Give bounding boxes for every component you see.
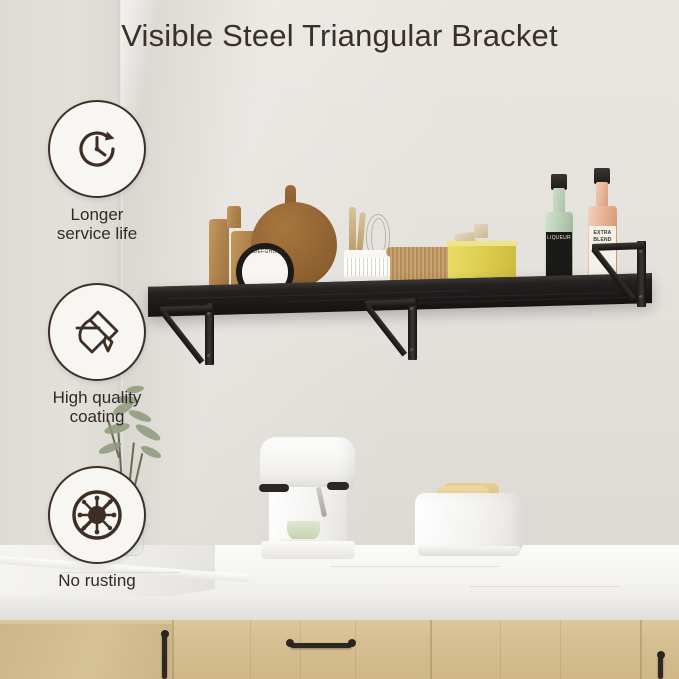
cabinet-handle-left[interactable] — [162, 634, 167, 679]
espresso-machine — [255, 437, 360, 559]
badge-label: No rusting — [22, 571, 172, 590]
cabinet-handle-knob — [657, 651, 665, 659]
yellow-pot-rim — [446, 241, 518, 246]
cabinet-wood-grain — [250, 620, 251, 679]
bracket-screw — [207, 312, 211, 316]
bracket-screw — [639, 295, 643, 299]
bracket-screw — [410, 307, 414, 311]
badge-circle — [48, 100, 146, 198]
product-lifestyle-image: ABCDEFGHIJKLMNOPQRSTUVWXYZ LIQUEUR EXTRA… — [0, 0, 679, 679]
cabinet-seam — [172, 620, 174, 679]
cabinet-left-side[interactable] — [0, 624, 172, 679]
cabinet-seam — [430, 620, 432, 679]
cabinet-wood-grain — [500, 620, 501, 679]
toaster — [415, 483, 523, 559]
toaster-base — [418, 546, 520, 556]
badge-no-rusting: No rusting — [22, 466, 172, 590]
paint-brush-icon — [68, 303, 126, 361]
page-title: Visible Steel Triangular Bracket — [0, 18, 679, 54]
bottle-label: LIQUEUR — [546, 232, 572, 281]
espresso-cup — [287, 521, 320, 541]
machine-base — [261, 541, 355, 559]
cutting-board-handle — [227, 206, 241, 228]
toaster-body — [415, 493, 523, 551]
badge-label: Longerservice life — [22, 205, 172, 243]
cabinet-wood-grain — [300, 620, 301, 679]
kitchen-towel — [344, 258, 392, 276]
cabinet-wood-grain — [355, 620, 356, 679]
cabinet-handle-knob — [286, 639, 294, 647]
marble-vein — [470, 586, 620, 587]
badge-circle — [48, 283, 146, 381]
bracket-screw — [639, 250, 643, 254]
wooden-spoon — [349, 207, 356, 255]
bracket-screw — [410, 348, 414, 352]
steam-knob — [327, 482, 349, 490]
whisk-icon — [371, 218, 386, 254]
cabinet-seam — [640, 620, 642, 679]
cabinet-handle-center[interactable] — [290, 643, 352, 648]
badge-label: High qualitycoating — [22, 388, 172, 426]
cabinet-handle-knob — [348, 639, 356, 647]
cabinet-handle-knob — [161, 630, 169, 638]
clock-rotate-icon — [69, 121, 125, 177]
no-rust-prohibition-icon — [66, 484, 128, 546]
cabinet-wood-grain — [560, 620, 561, 679]
cutting-board-tall — [209, 219, 229, 295]
bracket-screw — [207, 354, 211, 358]
marble-vein — [330, 566, 500, 567]
badge-circle — [48, 466, 146, 564]
portafilter-handle — [259, 484, 289, 492]
basket-rim — [386, 247, 456, 257]
badge-high-quality-coating: High qualitycoating — [22, 283, 172, 426]
badge-longer-service-life: Longerservice life — [22, 100, 172, 243]
cork-block — [474, 224, 488, 238]
